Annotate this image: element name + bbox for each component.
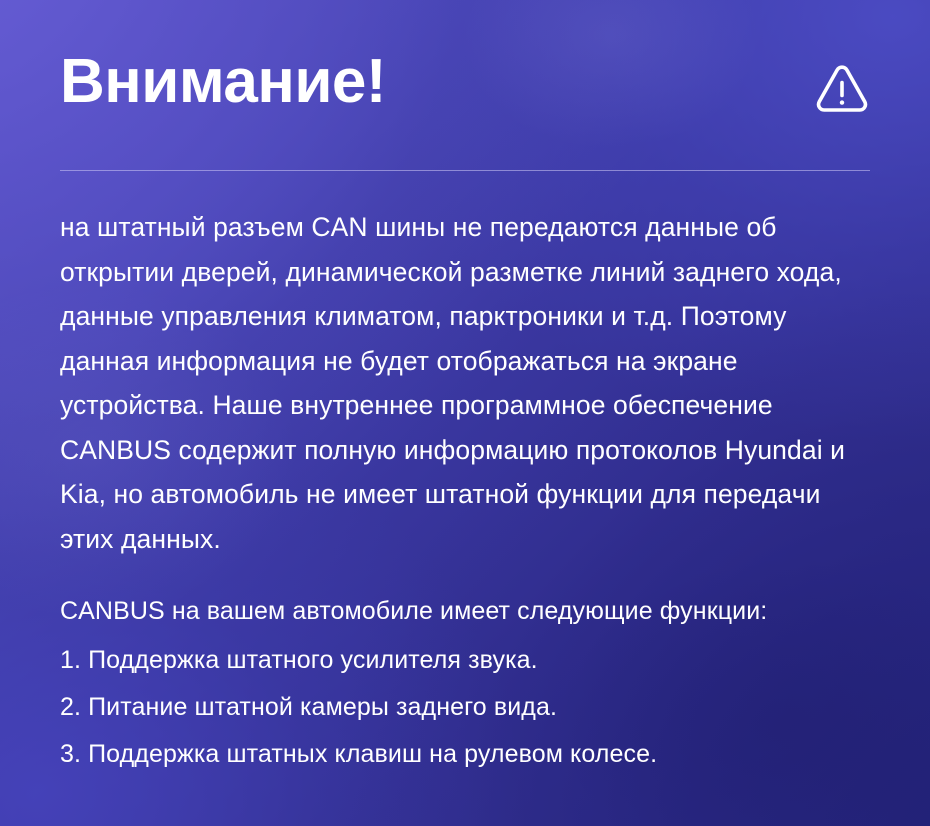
page-title: Внимание!: [60, 51, 386, 113]
list-item: 3. Поддержка штатных клавиш на рулевом к…: [60, 731, 878, 778]
header-divider: [60, 170, 870, 171]
list-item: 1. Поддержка штатного усилителя звука.: [60, 637, 878, 684]
notice-body: на штатный разъем CAN шины не передаются…: [60, 205, 878, 561]
list-item: 2. Питание штатной камеры заднего вида.: [60, 684, 878, 731]
features-list: 1. Поддержка штатного усилителя звука. 2…: [60, 637, 878, 778]
attention-banner: Внимание! на штатный разъем CAN шины не …: [0, 0, 930, 826]
features-section: CANBUS на вашем автомобиле имеет следующ…: [60, 588, 878, 778]
features-intro: CANBUS на вашем автомобиле имеет следующ…: [60, 588, 878, 635]
banner-header: Внимание!: [55, 0, 875, 170]
notice-paragraph: на штатный разъем CAN шины не передаются…: [60, 205, 878, 561]
warning-triangle-icon: [814, 62, 870, 114]
banner-content: Внимание! на штатный разъем CAN шины не …: [0, 0, 930, 826]
